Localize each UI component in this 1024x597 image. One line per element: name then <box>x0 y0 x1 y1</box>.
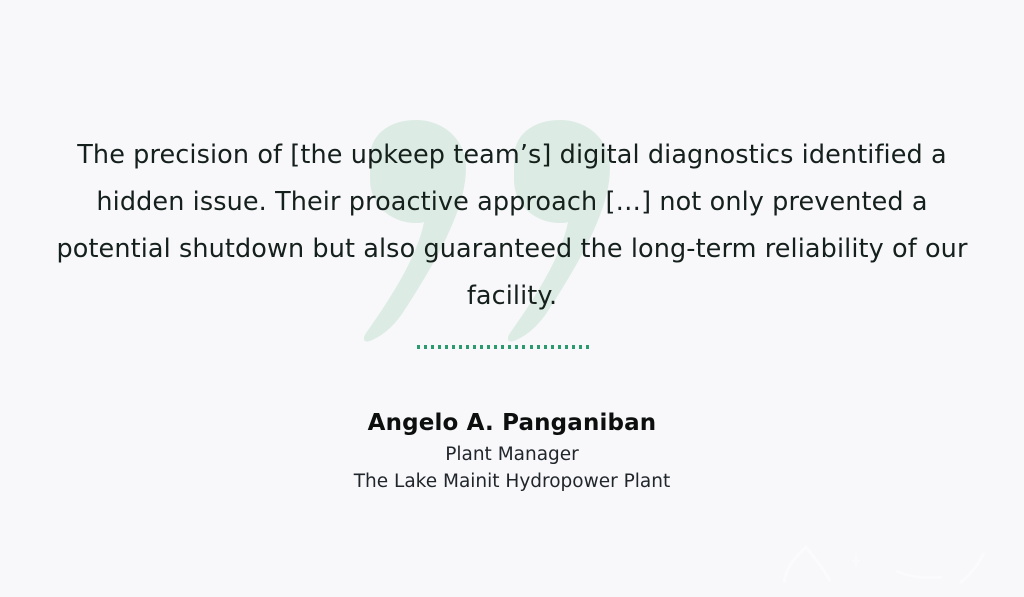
divider-dot <box>515 345 518 349</box>
divider-dot <box>473 345 476 349</box>
divider-dot <box>537 345 540 349</box>
divider-dot <box>424 345 427 349</box>
divider-dot <box>417 345 420 349</box>
author-role: Plant Manager <box>0 442 1024 468</box>
divider-dot <box>438 345 441 349</box>
divider-dot <box>586 345 589 349</box>
author-name: Angelo A. Panganiban <box>0 408 1024 438</box>
divider-dot <box>466 345 469 349</box>
divider-dot <box>522 345 525 349</box>
testimonial-quote-text: The precision of [the upkeep team’s] dig… <box>50 132 974 320</box>
divider-dot <box>487 345 490 349</box>
divider-dot <box>459 345 462 349</box>
divider-dot <box>544 345 547 349</box>
author-organization: The Lake Mainit Hydropower Plant <box>0 469 1024 495</box>
attribution-block: Angelo A. Panganiban Plant Manager The L… <box>0 408 1024 495</box>
divider-dot <box>452 345 455 349</box>
divider-dot <box>565 345 568 349</box>
divider-dot <box>579 345 582 349</box>
divider-dot <box>508 345 511 349</box>
divider-dot <box>572 345 575 349</box>
divider-dot <box>445 345 448 349</box>
dotted-divider <box>417 345 589 349</box>
divider-dot <box>530 345 533 349</box>
divider-dot <box>494 345 497 349</box>
divider-dot <box>551 345 554 349</box>
divider-dot <box>558 345 561 349</box>
divider-dot <box>501 345 504 349</box>
divider-dot <box>431 345 434 349</box>
divider-dot <box>480 345 483 349</box>
testimonial-card: The precision of [the upkeep team’s] dig… <box>0 0 1024 597</box>
